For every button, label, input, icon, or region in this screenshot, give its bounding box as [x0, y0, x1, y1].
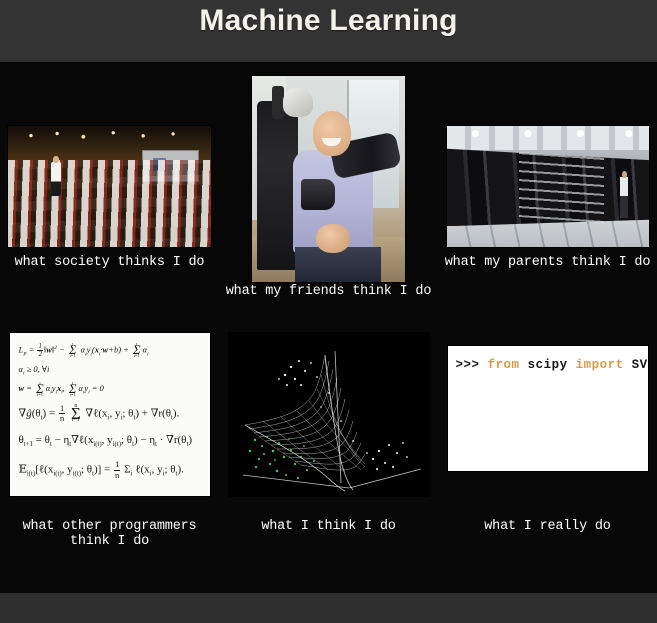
console-code-line: >>> from scipy import SVM [456, 358, 648, 372]
equation-alpha-constraint: αi ≥ 0, ∀i [19, 365, 201, 377]
meme-image: Machine Learning what society thinks I d… [0, 0, 657, 623]
panel-friends: what my friends think I do [219, 62, 438, 327]
panel-other-programmers-image-wrap: LP = 12‖w‖2 − Σli=1 αiyi(xi·w+b) + Σli=1… [0, 327, 219, 499]
3d-decision-surface-plot [229, 333, 429, 496]
panel-parents: what my parents think I do [438, 62, 657, 327]
panel-other-programmers-caption: what other programmers think I do [0, 519, 219, 549]
equation-expectation: 𝔼i(t)[ℓ(xi(t), yi(t); θt)] = 1n Σi ℓ(xi,… [19, 460, 201, 479]
panel-i-think-caption: what I think I do [219, 519, 438, 534]
man-with-humanoid-robot-photo [252, 76, 405, 282]
panel-friends-caption: what my friends think I do [219, 284, 438, 299]
panel-i-really-do-image-wrap: >>> from scipy import SVM [438, 327, 657, 499]
panel-i-really-do: >>> from scipy import SVM what I really … [438, 327, 657, 593]
panel-i-really-do-caption: what I really do [438, 519, 657, 534]
lecture-hall-of-robots-photo [8, 126, 211, 247]
console-symbol-svm: SVM [632, 358, 648, 372]
panel-grid: what society thinks I do [0, 62, 657, 593]
svm-equations-panel: LP = 12‖w‖2 − Σli=1 αiyi(xi·w+b) + Σli=1… [10, 333, 210, 496]
equation-lagrangian: LP = 12‖w‖2 − Σli=1 αiyi(xi·w+b) + Σli=1… [19, 343, 201, 358]
panel-friends-image-wrap [219, 62, 438, 274]
mesh-surface-svg [229, 333, 429, 496]
console-module-scipy: scipy [528, 358, 568, 372]
supercomputer-server-racks-photo [447, 126, 649, 247]
panel-parents-caption: what my parents think I do [438, 255, 657, 270]
panel-other-programmers: LP = 12‖w‖2 − Σli=1 αiyi(xi·w+b) + Σli=1… [0, 327, 219, 593]
panel-parents-image-wrap [438, 62, 657, 247]
equation-gradient: ∇ĝ(θt) = 1n Σni=1 ∇ℓ(xi, yi; θt) + ∇r(θt… [19, 404, 201, 423]
footer-band [0, 593, 657, 623]
panel-society-image-wrap [0, 62, 219, 247]
equation-w-definition: w = Σli=1αiyixi, Σli=1αiyi = 0 [19, 384, 201, 396]
panel-society: what society thinks I do [0, 62, 219, 327]
page-title: Machine Learning [0, 4, 657, 38]
panel-society-caption: what society thinks I do [0, 255, 219, 270]
panel-i-think: what I think I do [219, 327, 438, 593]
python-console-panel: >>> from scipy import SVM [448, 346, 648, 471]
equation-sgd-update: θt+1 = θt − ηt∇ℓ(xi(t), yi(t); θt) − ηt … [19, 435, 201, 448]
panel-i-think-image-wrap [219, 327, 438, 499]
console-keyword-from: from [488, 358, 520, 372]
console-keyword-import: import [576, 358, 624, 372]
console-prompt: >>> [456, 358, 480, 372]
